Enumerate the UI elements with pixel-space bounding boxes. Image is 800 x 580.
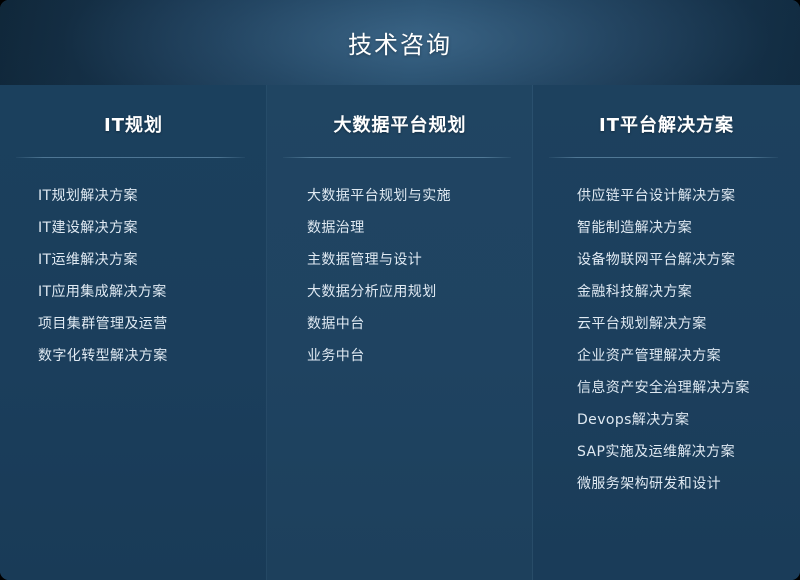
list-item[interactable]: 项目集群管理及运营 bbox=[38, 308, 253, 340]
list-item[interactable]: Devops解决方案 bbox=[577, 404, 786, 436]
category-column-it-platform-solutions: IT平台解决方案 供应链平台设计解决方案 智能制造解决方案 设备物联网平台解决方… bbox=[533, 85, 800, 580]
columns-container: IT规划 IT规划解决方案 IT建设解决方案 IT运维解决方案 IT应用集成解决… bbox=[0, 85, 800, 580]
list-item[interactable]: 数字化转型解决方案 bbox=[38, 340, 253, 372]
column-title: 大数据平台规划 bbox=[267, 85, 533, 137]
page-title: 技术咨询 bbox=[0, 0, 800, 85]
list-item[interactable]: 数据中台 bbox=[307, 308, 519, 340]
list-item[interactable]: 微服务架构研发和设计 bbox=[577, 468, 786, 500]
list-item[interactable]: 云平台规划解决方案 bbox=[577, 308, 786, 340]
category-column-big-data-platform-planning: 大数据平台规划 大数据平台规划与实施 数据治理 主数据管理与设计 大数据分析应用… bbox=[267, 85, 533, 580]
column-title: IT规划 bbox=[0, 85, 267, 137]
list-item[interactable]: 供应链平台设计解决方案 bbox=[577, 180, 786, 212]
category-column-it-planning: IT规划 IT规划解决方案 IT建设解决方案 IT运维解决方案 IT应用集成解决… bbox=[0, 85, 267, 580]
solution-list: 供应链平台设计解决方案 智能制造解决方案 设备物联网平台解决方案 金融科技解决方… bbox=[533, 158, 800, 500]
list-item[interactable]: SAP实施及运维解决方案 bbox=[577, 436, 786, 468]
list-item[interactable]: IT建设解决方案 bbox=[38, 212, 253, 244]
tech-consulting-panel: 技术咨询 IT规划 IT规划解决方案 IT建设解决方案 IT运维解决方案 IT应… bbox=[0, 0, 800, 580]
list-item[interactable]: 企业资产管理解决方案 bbox=[577, 340, 786, 372]
solution-list: IT规划解决方案 IT建设解决方案 IT运维解决方案 IT应用集成解决方案 项目… bbox=[0, 158, 267, 372]
list-item[interactable]: 数据治理 bbox=[307, 212, 519, 244]
solution-list: 大数据平台规划与实施 数据治理 主数据管理与设计 大数据分析应用规划 数据中台 … bbox=[267, 158, 533, 372]
list-item[interactable]: IT应用集成解决方案 bbox=[38, 276, 253, 308]
list-item[interactable]: 设备物联网平台解决方案 bbox=[577, 244, 786, 276]
list-item[interactable]: IT规划解决方案 bbox=[38, 180, 253, 212]
list-item[interactable]: 信息资产安全治理解决方案 bbox=[577, 372, 786, 404]
list-item[interactable]: 智能制造解决方案 bbox=[577, 212, 786, 244]
list-item[interactable]: 金融科技解决方案 bbox=[577, 276, 786, 308]
panel-header: 技术咨询 bbox=[0, 0, 800, 85]
list-item[interactable]: 业务中台 bbox=[307, 340, 519, 372]
list-item[interactable]: 大数据分析应用规划 bbox=[307, 276, 519, 308]
column-title: IT平台解决方案 bbox=[533, 85, 800, 137]
list-item[interactable]: IT运维解决方案 bbox=[38, 244, 253, 276]
list-item[interactable]: 大数据平台规划与实施 bbox=[307, 180, 519, 212]
list-item[interactable]: 主数据管理与设计 bbox=[307, 244, 519, 276]
